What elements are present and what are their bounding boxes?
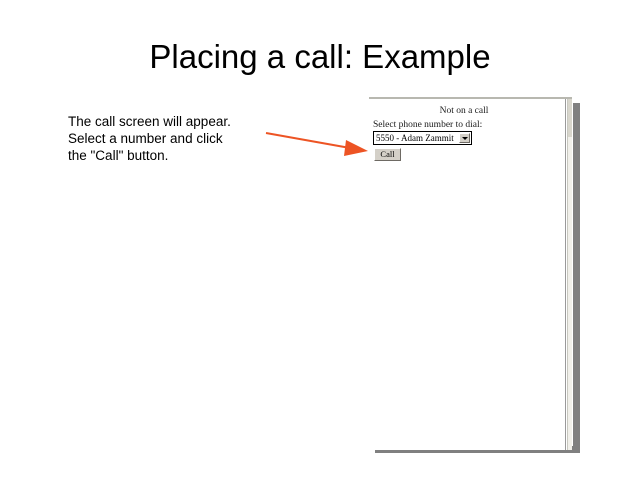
panel-vertical-scrollbar[interactable] bbox=[567, 99, 572, 450]
call-status-text: Not on a call bbox=[369, 106, 559, 116]
panel-shadow-right bbox=[573, 103, 580, 453]
body-line-2: Select a number and click bbox=[68, 130, 283, 147]
scrollbar-thumb[interactable] bbox=[568, 99, 572, 137]
chevron-down-icon[interactable] bbox=[459, 133, 470, 143]
slide-canvas: Placing a call: Example The call screen … bbox=[0, 0, 640, 480]
dial-number-label: Select phone number to dial: bbox=[373, 120, 482, 130]
call-button[interactable]: Call bbox=[374, 148, 401, 161]
phone-number-select[interactable]: 5550 - Adam Zammit bbox=[373, 131, 472, 145]
body-line-1: The call screen will appear. bbox=[68, 113, 283, 130]
body-line-3: the "Call" button. bbox=[68, 147, 283, 164]
panel-content-area: Not on a call Select phone number to dia… bbox=[369, 99, 566, 450]
embedded-screenshot-panel: Not on a call Select phone number to dia… bbox=[369, 97, 572, 450]
slide-body-text: The call screen will appear. Select a nu… bbox=[68, 113, 283, 164]
slide-title: Placing a call: Example bbox=[0, 38, 640, 76]
phone-number-select-value: 5550 - Adam Zammit bbox=[376, 133, 454, 144]
